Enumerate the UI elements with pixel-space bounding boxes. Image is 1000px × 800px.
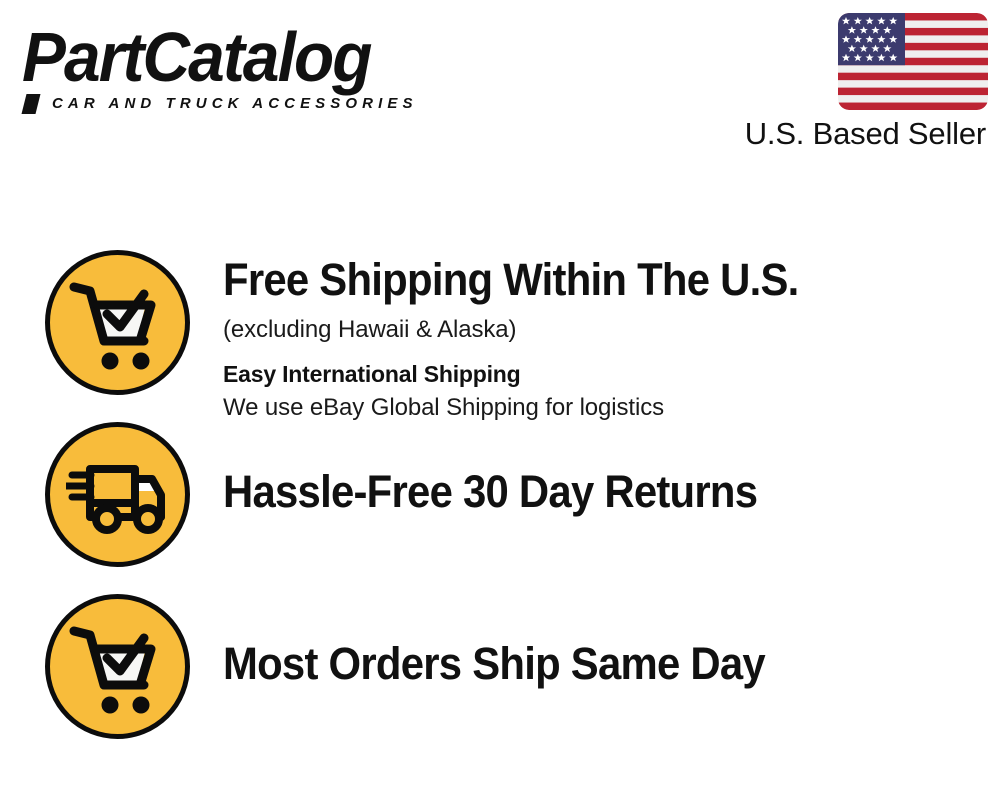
brand-tagline-row: CAR AND TRUCK ACCESSORIES [24,94,418,114]
feature-text-block: Most Orders Ship Same Day [223,639,983,689]
feature-subtitle-secondary: We use eBay Global Shipping for logistic… [223,392,983,424]
feature-subtitle-strong: Easy International Shipping [223,358,983,390]
feature-title: Hassle-Free 30 Day Returns [223,467,930,517]
brand-slash-mark [22,94,41,114]
us-based-seller-label: U.S. Based Seller [745,115,986,153]
feature-title: Free Shipping Within The U.S. [223,255,930,305]
us-flag-icon [838,13,988,110]
shopping-cart-check-icon [68,619,168,715]
header-banner: PartCatalog CAR AND TRUCK ACCESSORIES [0,0,1000,175]
feature-text-block: Hassle-Free 30 Day Returns [223,467,983,517]
feature-badge [45,422,190,567]
feature-subtitle: (excluding Hawaii & Alaska) [223,314,983,346]
feature-text-block: Free Shipping Within The U.S. (excluding… [223,250,983,424]
brand-logo: PartCatalog CAR AND TRUCK ACCESSORIES [22,22,492,112]
feature-title: Most Orders Ship Same Day [223,639,930,689]
feature-badge [45,594,190,739]
feature-badge [45,250,190,395]
brand-tagline: CAR AND TRUCK ACCESSORIES [52,95,418,113]
shopping-cart-check-icon [68,275,168,371]
brand-wordmark: PartCatalog [22,22,464,92]
delivery-truck-icon [66,455,170,535]
